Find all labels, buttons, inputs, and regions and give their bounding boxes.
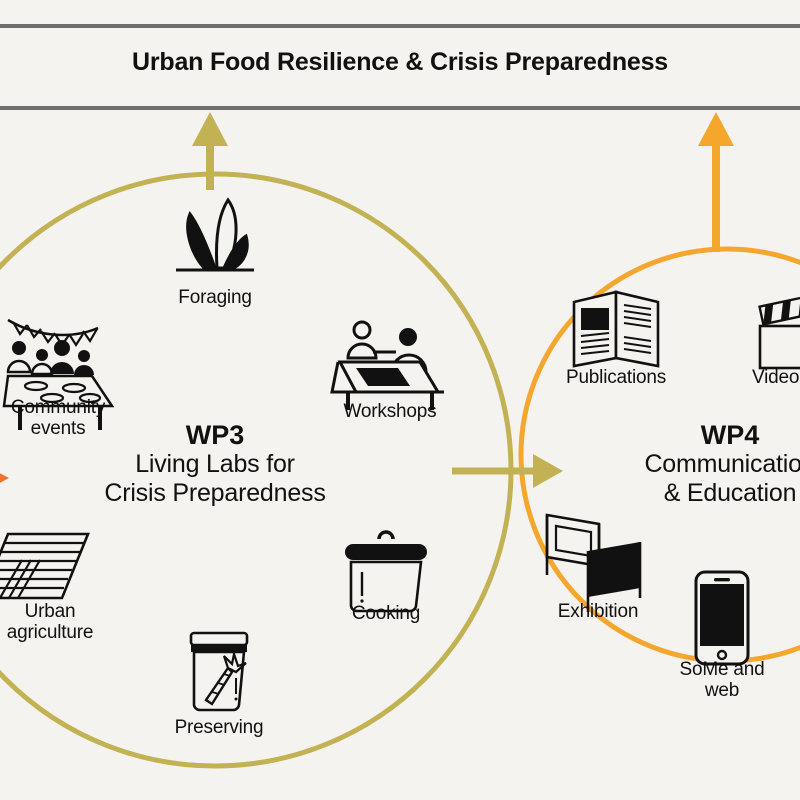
node-exhibition[interactable]: Exhibition (535, 602, 661, 623)
node-urban-agriculture-label-2: agriculture (0, 623, 112, 644)
node-community-events-label-2: events (0, 419, 128, 440)
wp3-title-line2: Crisis Preparedness (55, 479, 375, 508)
wp4-to-header-arrow (698, 112, 734, 252)
wp3-title-line1: Living Labs for (55, 450, 375, 479)
cooking-pot-icon (345, 532, 427, 611)
node-some-and-web[interactable]: SoMe and web (662, 660, 782, 702)
preserve-jar-icon (191, 633, 247, 710)
node-cooking[interactable]: Cooking (326, 604, 446, 625)
wp3-to-wp4-arrow (452, 454, 563, 488)
node-urban-agriculture-label-1: Urban (0, 602, 112, 623)
plant-sprout-icon (176, 200, 254, 270)
node-some-and-web-label-2: web (662, 681, 782, 702)
node-publications-label: Publications (551, 368, 681, 389)
clapperboard-icon (760, 291, 800, 368)
node-foraging-label: Foraging (155, 288, 275, 309)
node-some-and-web-label-1: SoMe and (662, 660, 782, 681)
crop-field-icon (0, 534, 88, 598)
wp4-code: WP4 (600, 420, 800, 450)
node-urban-agriculture[interactable]: Urban agriculture (0, 602, 112, 644)
wp4-title-line1: Communication (600, 450, 800, 479)
node-cooking-label: Cooking (326, 604, 446, 625)
node-preserving-label: Preserving (159, 718, 279, 739)
node-video-label: Video (752, 368, 800, 389)
node-workshops[interactable]: Workshops (325, 402, 455, 423)
node-preserving[interactable]: Preserving (159, 718, 279, 739)
wp3-to-header-arrow (192, 112, 228, 190)
open-book-icon (574, 292, 658, 366)
node-exhibition-label: Exhibition (535, 602, 661, 623)
wp4-label-block: WP4 Communication & Education (600, 420, 800, 507)
node-community-events-label-1: Community (0, 398, 128, 419)
node-workshops-label: Workshops (325, 402, 455, 423)
incoming-left-arrow (0, 470, 9, 486)
node-community-events[interactable]: Community events (0, 398, 128, 440)
node-video[interactable]: Video (752, 368, 800, 389)
diagram-canvas: Urban Food Resilience & Crisis Preparedn… (0, 0, 800, 800)
smartphone-icon (696, 572, 748, 664)
node-foraging[interactable]: Foraging (155, 288, 275, 309)
wp4-title-line2: & Education (600, 479, 800, 508)
node-publications[interactable]: Publications (551, 368, 681, 389)
display-panels-icon (547, 515, 640, 612)
people-at-desk-icon (332, 322, 444, 410)
